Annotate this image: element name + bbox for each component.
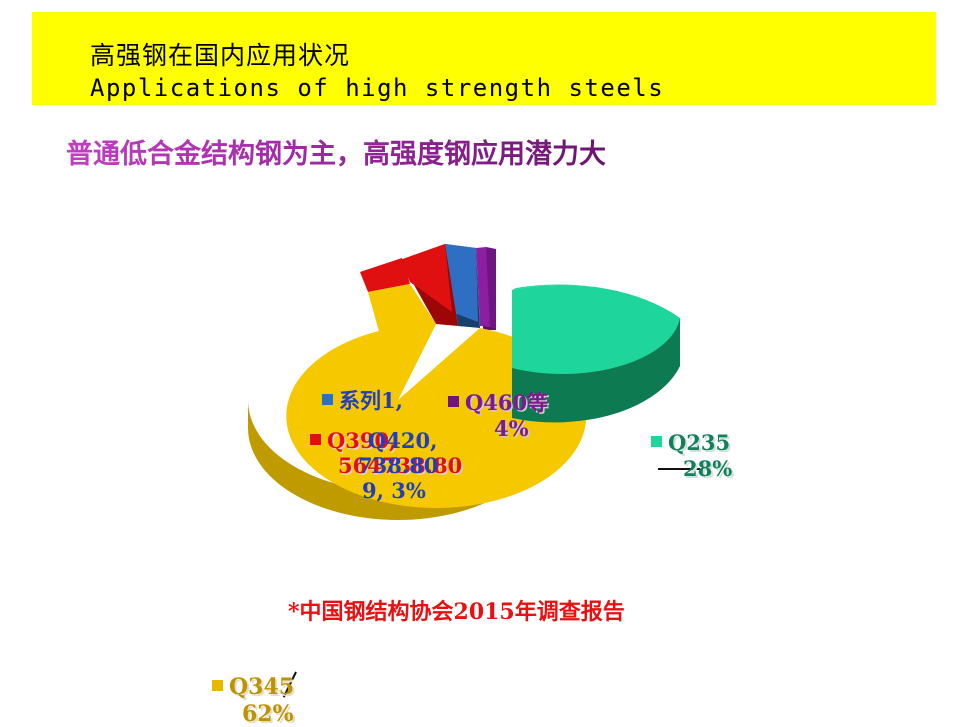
- q420-label-text: Q420,: [368, 428, 437, 453]
- page-title-chinese: 高强钢在国内应用状况: [90, 36, 350, 72]
- q460-swatch-icon: [448, 396, 459, 407]
- pie-label-q235: Q235 28%: [651, 432, 732, 480]
- slide-canvas: 高强钢在国内应用状况 Applications of high strength…: [0, 0, 960, 720]
- pie-label-q345: Q345 62%: [212, 676, 294, 726]
- q345-swatch-icon: [212, 680, 223, 691]
- q235-swatch-icon: [651, 436, 662, 447]
- pie-chart: 系列1, Q460等 4% Q390, 564738.80 Q420, 738.…: [0, 180, 960, 600]
- pie-label-q460: Q460等 4%: [448, 392, 548, 440]
- title-banner: 高强钢在国内应用状况 Applications of high strength…: [32, 12, 936, 105]
- q420-percent-text: 9, 3%: [362, 480, 438, 502]
- q420-value-text: 738.80: [358, 455, 438, 477]
- q390-swatch-icon: [310, 434, 321, 445]
- q460-percent-text: 4%: [494, 418, 548, 440]
- pie-svg: [240, 200, 710, 560]
- series1-label-text: 系列1,: [339, 388, 403, 413]
- q345-percent-text: 62%: [242, 703, 294, 726]
- q235-label-text: Q235: [668, 430, 730, 455]
- subtitle-text: 普通低合金结构钢为主，高强度钢应用潜力大: [66, 132, 606, 171]
- pie-label-series1: 系列1,: [322, 390, 403, 412]
- q345-label-text: Q345: [229, 674, 294, 700]
- q460-label-text: Q460等: [465, 390, 548, 415]
- series1-swatch-icon: [322, 394, 333, 405]
- pie-graphic: [240, 200, 710, 560]
- page-title-english: Applications of high strength steels: [90, 74, 664, 102]
- q235-percent-text: 28%: [683, 458, 732, 480]
- pie-label-q420: Q420, 738.80 9, 3%: [368, 430, 438, 501]
- source-footnote: *中国钢结构协会2015年调查报告: [288, 594, 625, 626]
